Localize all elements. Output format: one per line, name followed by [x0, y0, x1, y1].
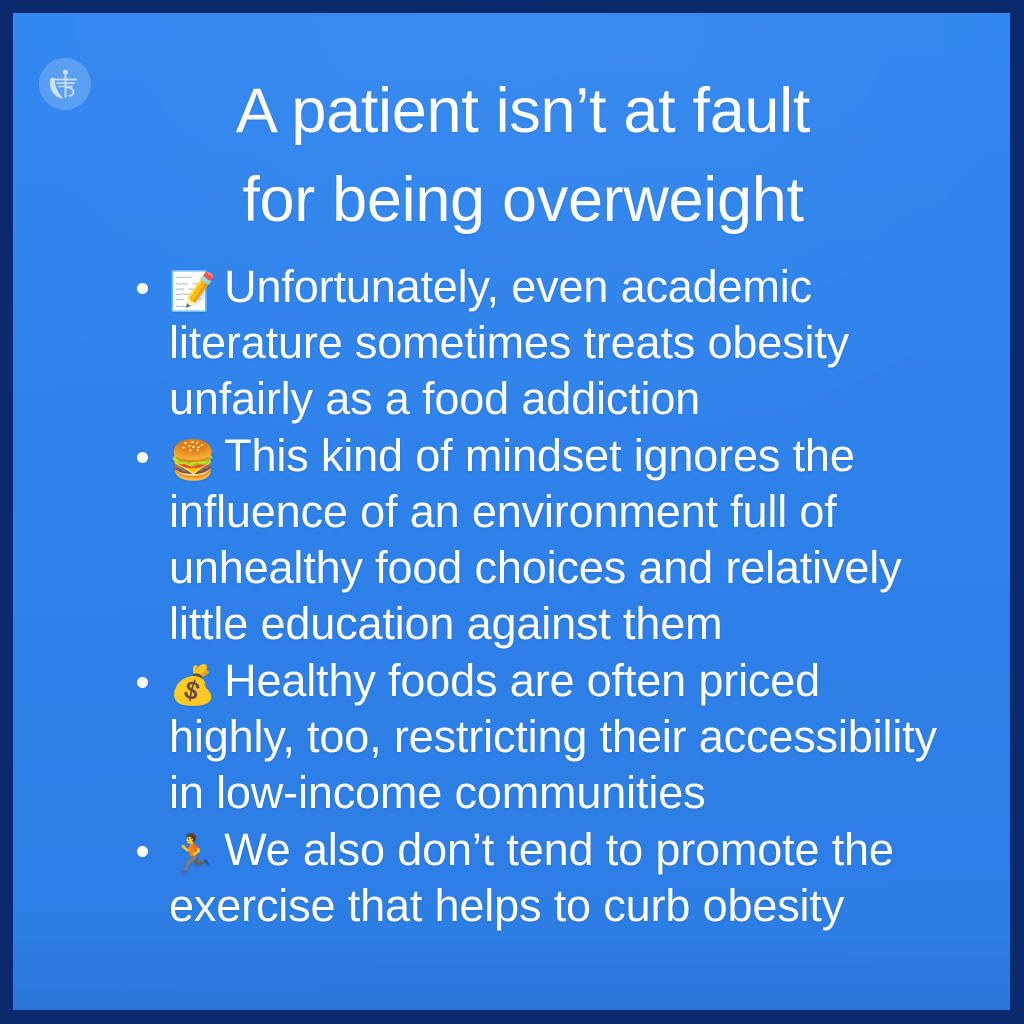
slide-frame: A patient isn’t at fault for being overw…: [0, 0, 1024, 1024]
memo-icon: 📝: [169, 269, 216, 313]
bullet-list: 📝Unfortunately, even academic literature…: [121, 259, 948, 935]
list-item: 💰Healthy foods are often priced highly, …: [121, 653, 948, 821]
money-bag-icon: 💰: [169, 663, 216, 707]
medical-caduceus-logo: [39, 58, 91, 110]
list-item-text: Unfortunately, even academic literature …: [169, 261, 849, 424]
list-item-text: This kind of mindset ignores the influen…: [169, 430, 901, 649]
hamburger-icon: 🍔: [169, 438, 216, 482]
bullet-dot-icon: [137, 846, 148, 857]
bullet-dot-icon: [137, 677, 148, 688]
list-item: 📝Unfortunately, even academic literature…: [121, 259, 948, 427]
list-item: 🏃We also don’t tend to promote the exerc…: [121, 822, 948, 934]
list-item-text: We also don’t tend to promote the exerci…: [169, 824, 894, 931]
slide-canvas: A patient isn’t at fault for being overw…: [13, 13, 1010, 1010]
list-item-text: Healthy foods are often priced highly, t…: [169, 655, 937, 818]
slide-title: A patient isn’t at fault for being overw…: [108, 67, 938, 246]
runner-icon: 🏃: [169, 832, 216, 876]
list-item: 🍔This kind of mindset ignores the influe…: [121, 428, 948, 652]
bullet-dot-icon: [137, 283, 148, 294]
bullet-dot-icon: [137, 452, 148, 463]
